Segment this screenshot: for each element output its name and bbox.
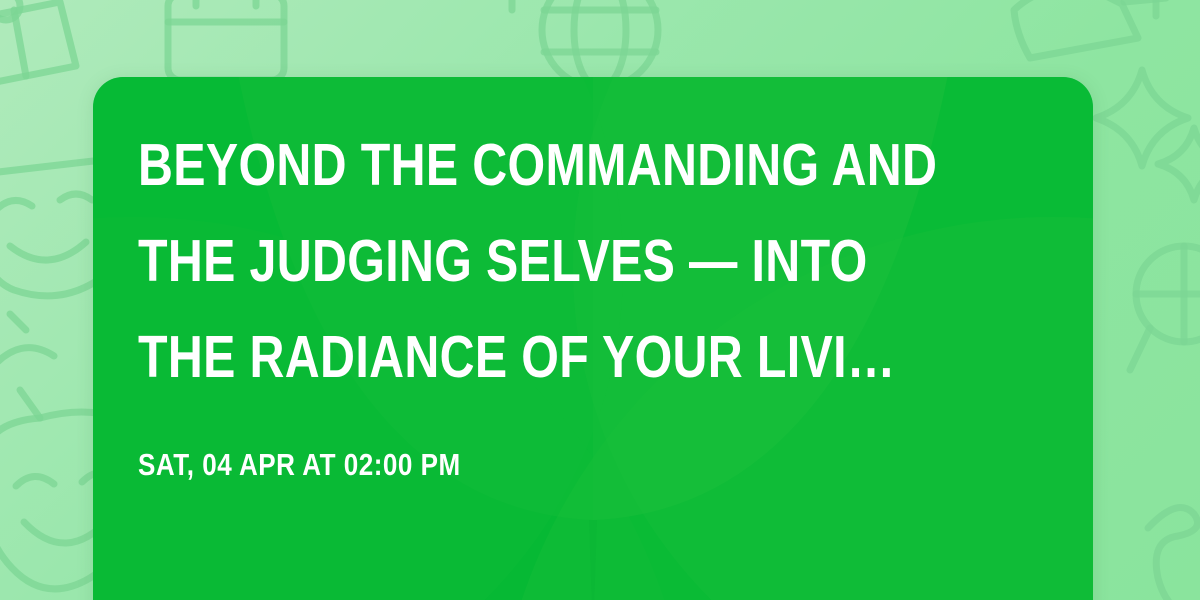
sparkle-icon	[1084, 60, 1200, 180]
confetti-icon	[0, 300, 100, 410]
event-title-line-1: BEYOND THE COMMANDING AND	[138, 117, 888, 213]
card-content: BEYOND THE COMMANDING AND THE JUDGING SE…	[138, 117, 1053, 482]
ribbon-icon	[1136, 470, 1200, 600]
event-datetime: SAT, 04 APR AT 02:00 PM	[138, 448, 907, 482]
event-title-line-2: THE JUDGING SELVES — INTO	[138, 213, 888, 309]
confetti-icon	[498, 0, 528, 28]
sparkle-icon	[1150, 120, 1200, 210]
confetti-icon	[0, 0, 50, 50]
event-title-line-3: THE RADIANCE OF YOUR LIVI…	[138, 309, 888, 405]
event-title: BEYOND THE COMMANDING AND THE JUDGING SE…	[138, 117, 888, 405]
ticket-icon	[0, 0, 90, 100]
event-promo-banner: BEYOND THE COMMANDING AND THE JUDGING SE…	[0, 0, 1200, 600]
event-card[interactable]: BEYOND THE COMMANDING AND THE JUDGING SE…	[93, 77, 1093, 600]
microphone-icon	[1122, 232, 1200, 412]
